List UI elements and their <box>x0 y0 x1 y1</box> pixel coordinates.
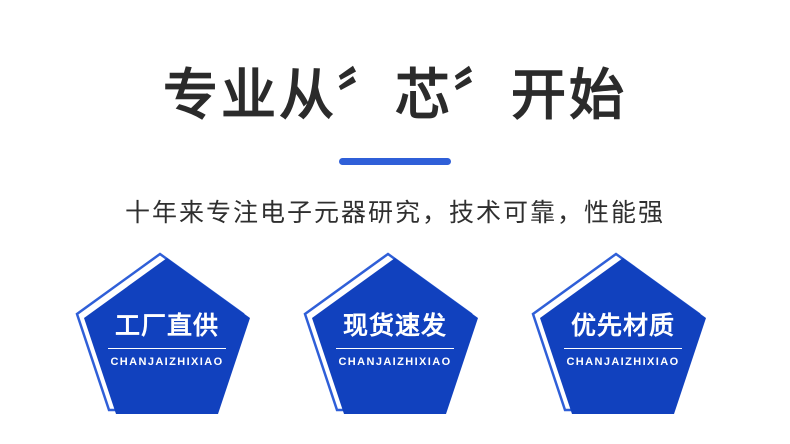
feature-badge: 工厂直供 CHANJAIZHIXIAO <box>81 255 253 417</box>
feature-badge-row: 工厂直供 CHANJAIZHIXIAO 现货速发 CHANJAIZHIXIAO <box>0 255 790 420</box>
title-underline-accent <box>339 158 451 165</box>
page-subtitle: 十年来专注电子元器研究，技术可靠，性能强 <box>0 196 790 230</box>
feature-badge: 现货速发 CHANJAIZHIXIAO <box>309 255 481 417</box>
pentagon-shape-icon <box>81 255 253 417</box>
page-title: 专业从〞芯〞开始 <box>0 62 790 128</box>
promo-banner: 专业从〞芯〞开始 十年来专注电子元器研究，技术可靠，性能强 工厂直供 CHANJ… <box>0 0 790 444</box>
pentagon-shape-icon <box>309 255 481 417</box>
feature-badge: 优先材质 CHANJAIZHIXIAO <box>537 255 709 417</box>
pentagon-shape-icon <box>537 255 709 417</box>
